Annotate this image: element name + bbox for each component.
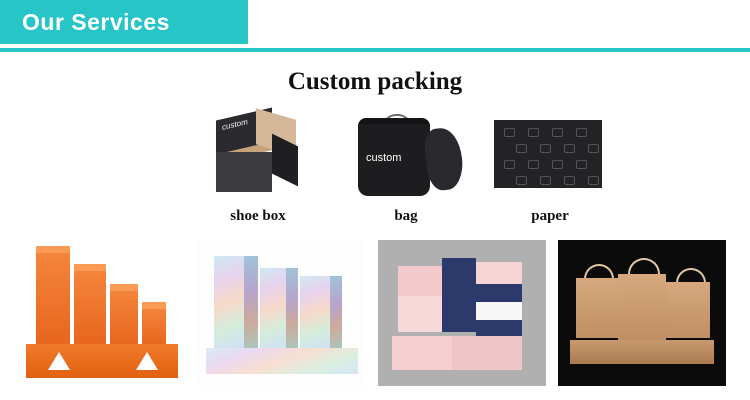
photo-kraft-paper-bags bbox=[558, 240, 726, 386]
photo-gift-box-stack bbox=[378, 240, 546, 386]
top-product-row: custom shoe box custom bag bbox=[160, 112, 600, 232]
photo-holographic-boxes bbox=[198, 240, 366, 386]
section-title: Custom packing bbox=[0, 68, 750, 96]
bottom-photo-row bbox=[18, 240, 732, 386]
header-underline bbox=[0, 48, 750, 52]
product-paper-caption: paper bbox=[490, 208, 610, 225]
product-shoe-box-caption: shoe box bbox=[198, 208, 318, 225]
page-title: Our Services bbox=[22, 9, 170, 36]
paper-sheet bbox=[494, 120, 602, 188]
orange-tray bbox=[26, 344, 178, 378]
photo-orange-rigid-boxes bbox=[18, 240, 186, 386]
bag-print-label: custom bbox=[366, 152, 401, 164]
product-bag-caption: bag bbox=[346, 208, 466, 225]
header-band: Our Services bbox=[0, 0, 750, 55]
services-slide: Our Services Custom packing custom shoe … bbox=[0, 0, 750, 400]
shoe-box-front bbox=[216, 152, 272, 192]
product-bag-image: custom bbox=[346, 112, 466, 207]
product-paper-image bbox=[490, 112, 610, 202]
product-shoe-box-image: custom bbox=[198, 112, 318, 202]
